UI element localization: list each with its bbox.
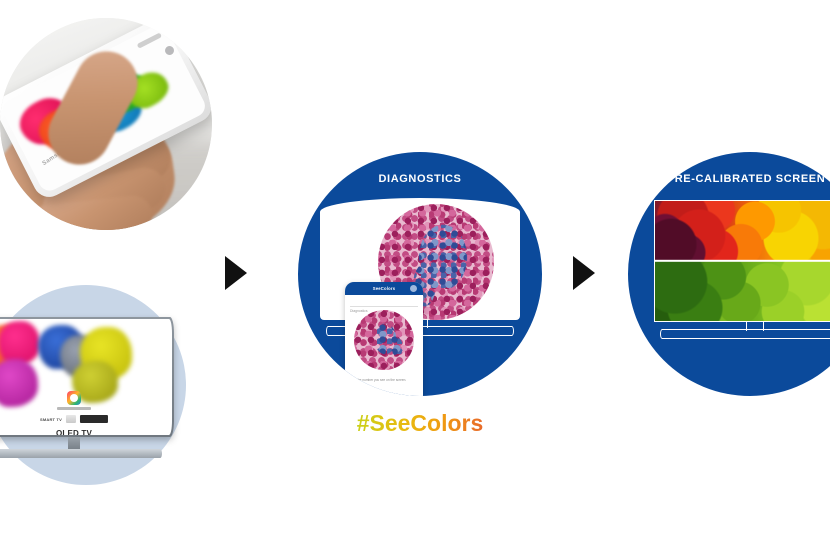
vegetable-image-bottom-half bbox=[655, 261, 830, 321]
recalibrated-screen-label: RE-CALIBRATED SCREEN bbox=[628, 173, 830, 185]
ink-splash bbox=[0, 359, 38, 407]
diagnostics-label: DIAGNOSTICS bbox=[298, 173, 542, 185]
tv-logo-row: SMART TV bbox=[40, 415, 108, 423]
tv-stand-base bbox=[0, 449, 162, 458]
tv-bezel: SMART TV QLED TV QUANTUM DOT DISPLAY bbox=[0, 317, 174, 437]
phone-app-title: SeeColors bbox=[373, 286, 396, 291]
flow-arrow-right-icon bbox=[225, 256, 247, 290]
phone-footer-text: Next (1 of 12) bbox=[351, 394, 417, 396]
hand-holding-phone-photo: Samsung Galaxy bbox=[0, 18, 212, 230]
tv-screen: SMART TV QLED TV QUANTUM DOT DISPLAY bbox=[0, 319, 172, 435]
screen-split-divider bbox=[655, 260, 830, 262]
partner-logo-icon bbox=[66, 415, 76, 423]
app-logo-icon bbox=[67, 391, 81, 405]
diagnostics-circle: DIAGNOSTICS SeeColors Diagnostics Tap th… bbox=[298, 152, 542, 396]
partner-logo-dark-icon bbox=[80, 415, 108, 423]
phone-menu-icon[interactable] bbox=[410, 285, 417, 292]
recalibrated-tv-screen bbox=[654, 200, 830, 322]
fruit-image-top-half bbox=[655, 201, 830, 261]
phone-subbar: Diagnostics bbox=[350, 299, 418, 307]
tv-assembly: SMART TV QLED TV QUANTUM DOT DISPLAY bbox=[0, 317, 174, 472]
phone-subbar-label: Diagnostics bbox=[350, 309, 368, 313]
ishihara-numeral bbox=[354, 310, 414, 370]
infographic-canvas: Samsung Galaxy bbox=[0, 0, 830, 553]
phone-status-bar: SeeColors bbox=[345, 282, 423, 295]
hashtag-wrap: #SeeColors bbox=[298, 410, 542, 437]
curved-qled-tv-photo: SMART TV QLED TV QUANTUM DOT DISPLAY bbox=[0, 285, 186, 485]
qled-tv-label: QLED TV bbox=[56, 429, 92, 435]
flow-arrow-right-icon bbox=[573, 256, 595, 290]
smart-tv-label: SMART TV bbox=[40, 417, 62, 422]
diagnostics-phone: SeeColors Diagnostics Tap the number you… bbox=[345, 282, 423, 396]
recalibrated-tv bbox=[654, 200, 830, 340]
ishihara-plate[interactable] bbox=[354, 310, 414, 370]
recalibrated-screen-circle: RE-CALIBRATED SCREEN bbox=[628, 152, 830, 396]
see-colors-hashtag: #SeeColors bbox=[357, 410, 484, 436]
tv-stand-base bbox=[660, 329, 830, 339]
logo-caption-bar bbox=[57, 407, 91, 410]
phone-body-text: Tap the number you see on the screen. bbox=[351, 378, 417, 383]
